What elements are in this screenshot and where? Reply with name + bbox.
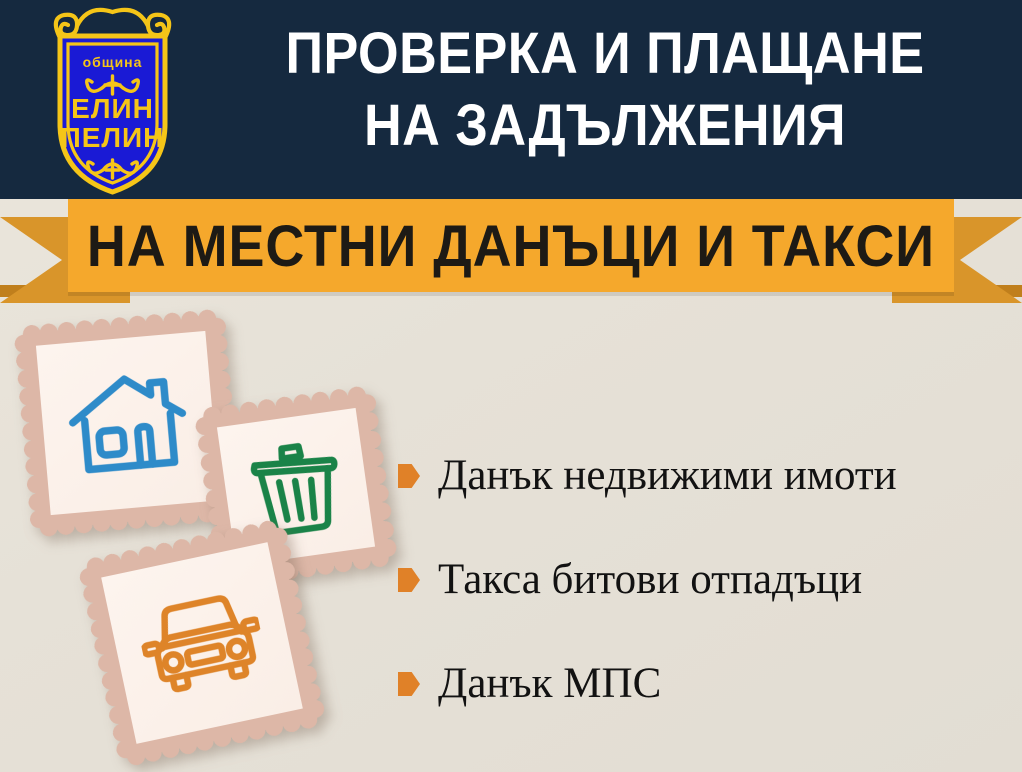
crest-icon: община ЕЛИН ПЕЛИН bbox=[30, 6, 195, 198]
list-item[interactable]: Данък МПС bbox=[398, 632, 1010, 736]
arrow-bullet-icon bbox=[398, 672, 420, 696]
svg-text:ПЕЛИН: ПЕЛИН bbox=[61, 122, 165, 153]
page-title: ПРОВЕРКА И ПЛАЩАНЕ НА ЗАДЪЛЖЕНИЯ bbox=[195, 18, 1015, 162]
svg-text:ЕЛИН: ЕЛИН bbox=[71, 93, 154, 124]
svg-text:община: община bbox=[83, 54, 143, 70]
ribbon-label: НА МЕСТНИ ДАНЪЦИ И ТАКСИ bbox=[87, 218, 935, 276]
arrow-bullet-icon bbox=[398, 568, 420, 592]
header-content: община ЕЛИН ПЕЛИН bbox=[0, 0, 1022, 199]
list-item[interactable]: Данък недвижими имоти bbox=[398, 424, 1010, 528]
page-title-line-1: ПРОВЕРКА И ПЛАЩАНЕ bbox=[236, 18, 974, 90]
list-item-label: Данък МПС bbox=[438, 660, 661, 708]
stamp-vehicle-tax bbox=[76, 517, 327, 768]
list-item[interactable]: Такса битови отпадъци bbox=[398, 528, 1010, 632]
poster-root: община ЕЛИН ПЕЛИН bbox=[0, 0, 1022, 772]
ribbon-body: НА МЕСТНИ ДАНЪЦИ И ТАКСИ bbox=[68, 199, 954, 292]
car-front-icon bbox=[76, 517, 327, 768]
page-title-line-2: НА ЗАДЪЛЖЕНИЯ bbox=[236, 90, 974, 162]
stamp-frame bbox=[76, 517, 327, 768]
subtitle-ribbon: НА МЕСТНИ ДАНЪЦИ И ТАКСИ bbox=[0, 199, 1022, 303]
arrow-bullet-icon bbox=[398, 464, 420, 488]
municipality-crest-logo: община ЕЛИН ПЕЛИН bbox=[30, 6, 195, 198]
tax-types-list: Данък недвижими имоти Такса битови отпад… bbox=[398, 424, 1010, 736]
list-item-label: Данък недвижими имоти bbox=[438, 452, 897, 500]
list-item-label: Такса битови отпадъци bbox=[438, 556, 862, 604]
